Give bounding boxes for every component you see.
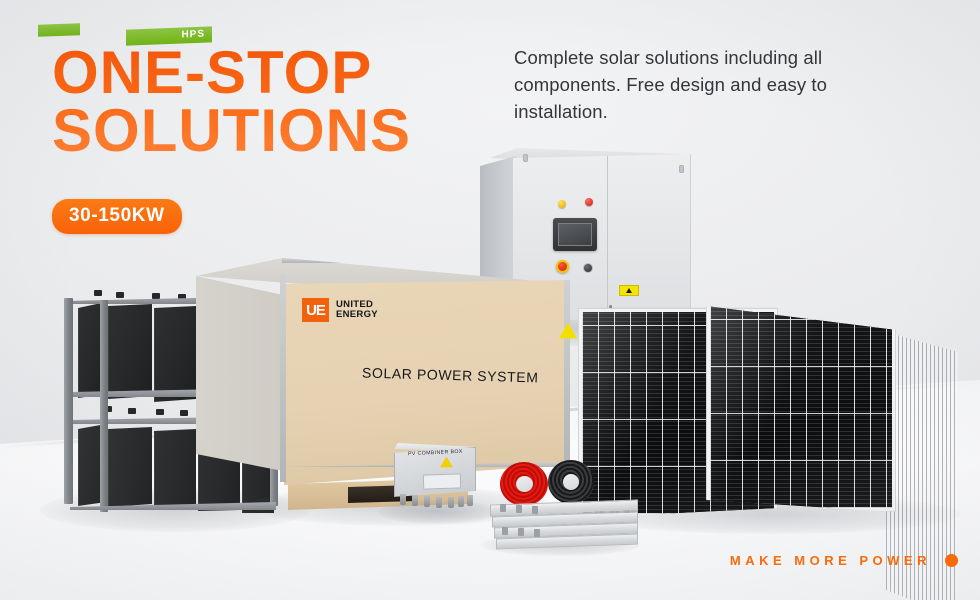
rack-post-mid — [100, 300, 108, 512]
cable-gland — [458, 496, 464, 507]
tagline-dot-icon — [945, 554, 958, 567]
rail-slot — [500, 504, 506, 512]
cable-gland — [412, 495, 418, 506]
cabinet-hinge-top — [523, 154, 528, 162]
brand-line-1: UNITED — [336, 299, 373, 310]
battery-terminal — [128, 408, 136, 414]
rail-slot — [532, 506, 538, 514]
indicator-lamp-yellow — [558, 200, 566, 208]
combiner-box-nameplate — [423, 473, 462, 489]
cabinet-warning-label — [619, 285, 639, 296]
battery-module — [154, 429, 196, 509]
selector-switch-knob[interactable] — [583, 263, 593, 273]
crate-edge-frame-right — [564, 280, 570, 468]
rail-slot — [518, 528, 524, 536]
brand-line-2: ENERGY — [336, 309, 378, 320]
rail-slot — [516, 505, 522, 513]
cable-gland — [467, 495, 473, 506]
rail-slot — [534, 529, 540, 537]
crate-edge-frame-vertical — [280, 274, 286, 482]
indicator-lamp-red — [585, 198, 593, 206]
red-coil-center — [516, 476, 533, 492]
solar-panel-stack — [578, 300, 980, 525]
ue-logo-mark: UE — [302, 298, 329, 322]
hmi-touchscreen[interactable] — [553, 218, 597, 251]
battery-module — [154, 306, 196, 402]
black-coil-center — [563, 474, 579, 490]
solar-panel-rear — [706, 300, 896, 512]
rack-post-front-left — [64, 298, 73, 504]
crate-side-face — [196, 272, 288, 472]
cabinet-hinge-upper — [679, 165, 684, 173]
promo-banner: HPS UE UNITED ENERGY SOLAR POWER SYSTEM — [0, 0, 980, 600]
cabinet-door-seam — [607, 156, 608, 318]
cable-gland — [436, 497, 442, 508]
battery-terminal — [94, 290, 102, 296]
cable-gland — [424, 496, 430, 507]
panel-glass-reflection — [710, 304, 892, 508]
tagline-text: MAKE MORE POWER — [730, 553, 931, 568]
crate-brand-logo: UE UNITED ENERGY — [302, 298, 378, 322]
crate-edge-frame-top — [282, 258, 570, 263]
battery-terminal — [156, 409, 164, 415]
rail-slot — [502, 527, 508, 535]
cable-gland — [448, 497, 454, 508]
battery-terminal — [116, 292, 124, 298]
panel-cell-area — [710, 304, 892, 508]
power-range-badge: 30-150KW — [52, 199, 182, 234]
crate-brand-text: UNITED ENERGY — [336, 300, 378, 321]
page-title: ONE-STOP SOLUTIONS — [52, 44, 411, 160]
battery-module — [108, 427, 152, 507]
battery-module — [108, 304, 152, 400]
tagline: MAKE MORE POWER — [730, 553, 958, 568]
battery-terminal — [180, 410, 188, 416]
battery-terminal — [152, 293, 160, 299]
cable-gland — [400, 494, 406, 505]
description-text: Complete solar solutions including all c… — [514, 44, 908, 125]
cabinet-green-band-left — [38, 23, 80, 37]
